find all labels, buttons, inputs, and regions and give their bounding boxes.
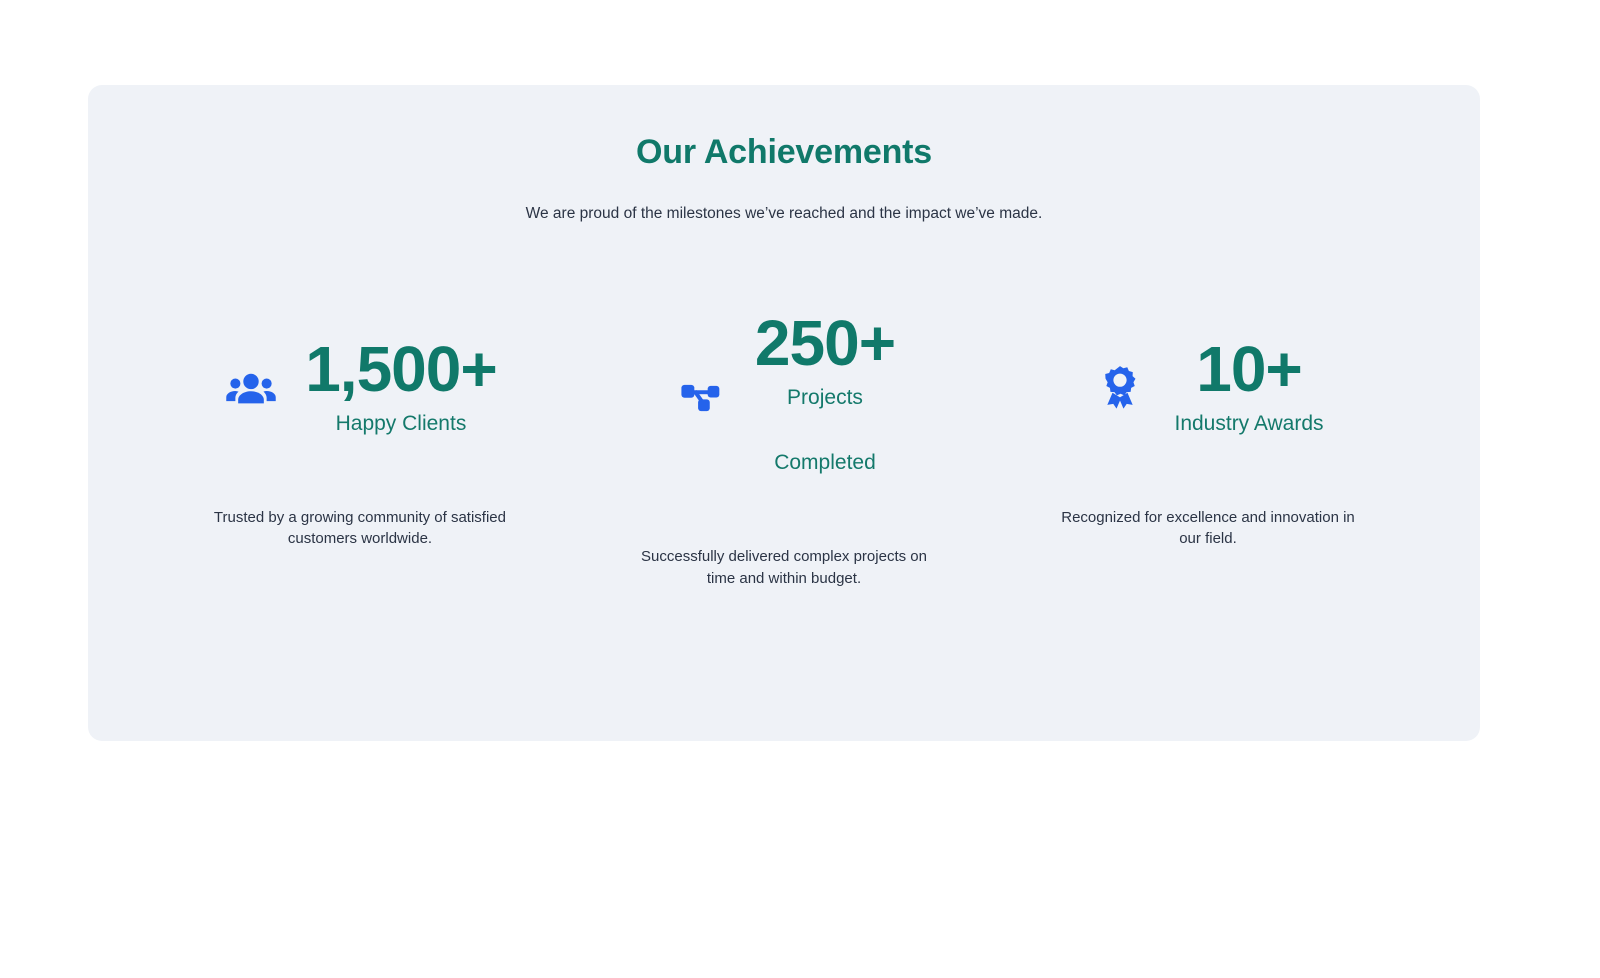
stat-value: 1,500+ xyxy=(305,335,497,404)
stat-textgroup: 250+ Projects Completed xyxy=(755,309,895,480)
achievements-section: Our Achievements We are proud of the mil… xyxy=(88,85,1480,741)
stat-main: 10+ Industry Awards xyxy=(1092,335,1323,441)
section-subtitle: We are proud of the milestones we’ve rea… xyxy=(88,205,1480,223)
stat-label: Happy Clients xyxy=(336,408,467,441)
stat-textgroup: 1,500+ Happy Clients xyxy=(305,335,497,441)
stat-value: 250+ xyxy=(755,309,895,378)
award-ribbon-icon xyxy=(1092,360,1148,416)
stat-textgroup: 10+ Industry Awards xyxy=(1174,335,1323,441)
stat-card-industry-awards: 10+ Industry Awards Recognized for excel… xyxy=(996,335,1420,550)
stat-main: 1,500+ Happy Clients xyxy=(223,335,497,441)
stat-card-happy-clients: 1,500+ Happy Clients Trusted by a growin… xyxy=(148,335,572,550)
stat-label: Industry Awards xyxy=(1174,408,1323,441)
stat-description: Successfully delivered complex projects … xyxy=(629,546,939,590)
people-group-icon xyxy=(223,360,279,416)
stat-description: Trusted by a growing community of satisf… xyxy=(205,507,515,551)
stat-value: 10+ xyxy=(1196,335,1302,404)
stat-description: Recognized for excellence and innovation… xyxy=(1053,507,1363,551)
stat-card-projects-completed: 250+ Projects Completed Successfully del… xyxy=(572,335,996,589)
stat-label: Projects Completed xyxy=(774,382,876,480)
stats-row: 1,500+ Happy Clients Trusted by a growin… xyxy=(88,335,1480,589)
page-title: Our Achievements xyxy=(88,133,1480,172)
account-tree-icon xyxy=(673,366,729,422)
stat-main: 250+ Projects Completed xyxy=(673,309,895,480)
